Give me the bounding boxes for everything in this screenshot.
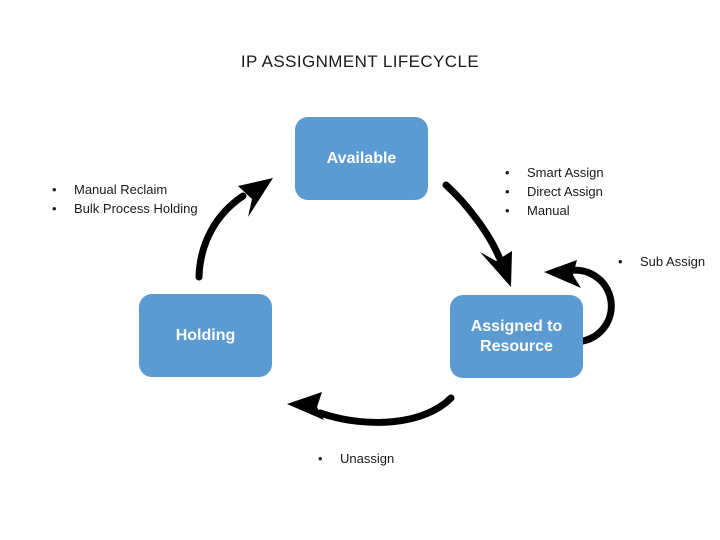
arrow-available-to-assigned bbox=[446, 185, 512, 287]
bullet-dot-icon: • bbox=[52, 199, 74, 218]
bullet-dot-icon: • bbox=[52, 180, 74, 199]
list-item: • Bulk Process Holding bbox=[52, 199, 198, 218]
state-box-available[interactable]: Available bbox=[295, 117, 428, 200]
list-item: • Sub Assign bbox=[618, 252, 705, 271]
list-item-label: Sub Assign bbox=[640, 252, 705, 271]
bullet-dot-icon: • bbox=[505, 201, 527, 220]
state-box-holding[interactable]: Holding bbox=[139, 294, 272, 377]
state-box-assigned[interactable]: Assigned to Resource bbox=[450, 295, 583, 378]
list-item-label: Manual bbox=[527, 201, 570, 220]
arrow-assigned-to-holding bbox=[287, 392, 451, 422]
bullet-dot-icon: • bbox=[318, 449, 340, 468]
list-item-label: Manual Reclaim bbox=[74, 180, 167, 199]
bullet-dot-icon: • bbox=[505, 182, 527, 201]
bullet-list-unassign: • Unassign bbox=[318, 449, 394, 468]
bullet-list-sub-assign: • Sub Assign bbox=[618, 252, 705, 271]
list-item: • Manual bbox=[505, 201, 604, 220]
list-item: • Direct Assign bbox=[505, 182, 604, 201]
bullet-list-assign: • Smart Assign • Direct Assign • Manual bbox=[505, 163, 604, 220]
list-item: • Smart Assign bbox=[505, 163, 604, 182]
list-item: • Unassign bbox=[318, 449, 394, 468]
bullet-dot-icon: • bbox=[618, 252, 640, 271]
list-item-label: Smart Assign bbox=[527, 163, 604, 182]
list-item-label: Unassign bbox=[340, 449, 394, 468]
page-title: IP ASSIGNMENT LIFECYCLE bbox=[0, 52, 720, 72]
list-item-label: Direct Assign bbox=[527, 182, 603, 201]
bullet-list-reclaim: • Manual Reclaim • Bulk Process Holding bbox=[52, 180, 198, 218]
list-item-label: Bulk Process Holding bbox=[74, 199, 198, 218]
slide-canvas: IP ASSIGNMENT LIFECYCLE Available Holdin… bbox=[0, 0, 720, 540]
list-item: • Manual Reclaim bbox=[52, 180, 198, 199]
bullet-dot-icon: • bbox=[505, 163, 527, 182]
arrow-holding-to-available bbox=[199, 178, 273, 277]
